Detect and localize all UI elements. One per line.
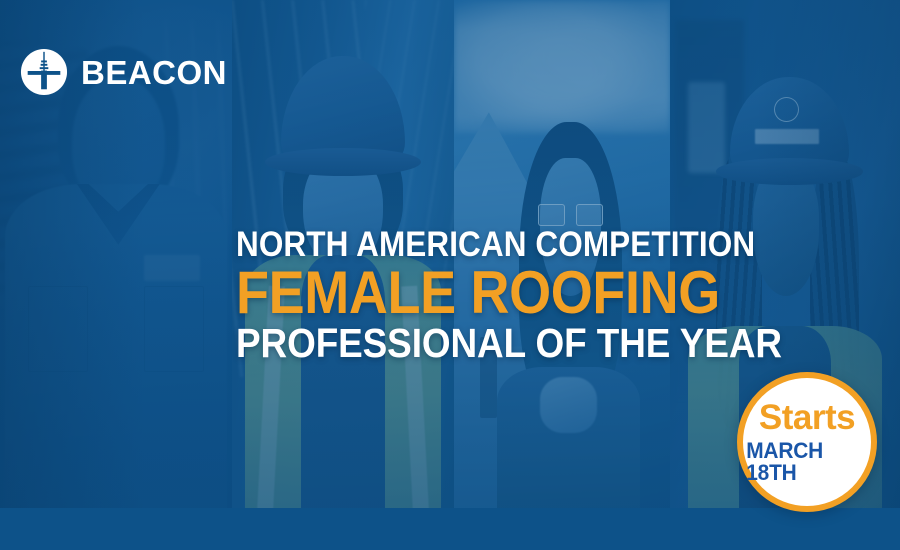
beacon-logo-lockup[interactable]: BEACON	[20, 48, 227, 96]
promo-banner: BEACON NORTH AMERICAN COMPETITION FEMALE…	[0, 0, 900, 550]
start-date-badge[interactable]: Starts MARCH 18TH	[737, 372, 877, 512]
beacon-wordmark: BEACON	[81, 56, 227, 89]
badge-date-label: MARCH 18TH	[746, 440, 868, 484]
headline-line-2: FEMALE ROOFING	[236, 264, 650, 322]
headline-line-1: NORTH AMERICAN COMPETITION	[236, 228, 650, 262]
headline-line-3: PROFESSIONAL OF THE YEAR	[236, 324, 650, 363]
bottom-color-band	[0, 508, 900, 550]
badge-starts-label: Starts	[759, 400, 855, 435]
headline-block: NORTH AMERICAN COMPETITION FEMALE ROOFIN…	[236, 228, 696, 364]
beacon-lighthouse-icon	[20, 48, 68, 96]
